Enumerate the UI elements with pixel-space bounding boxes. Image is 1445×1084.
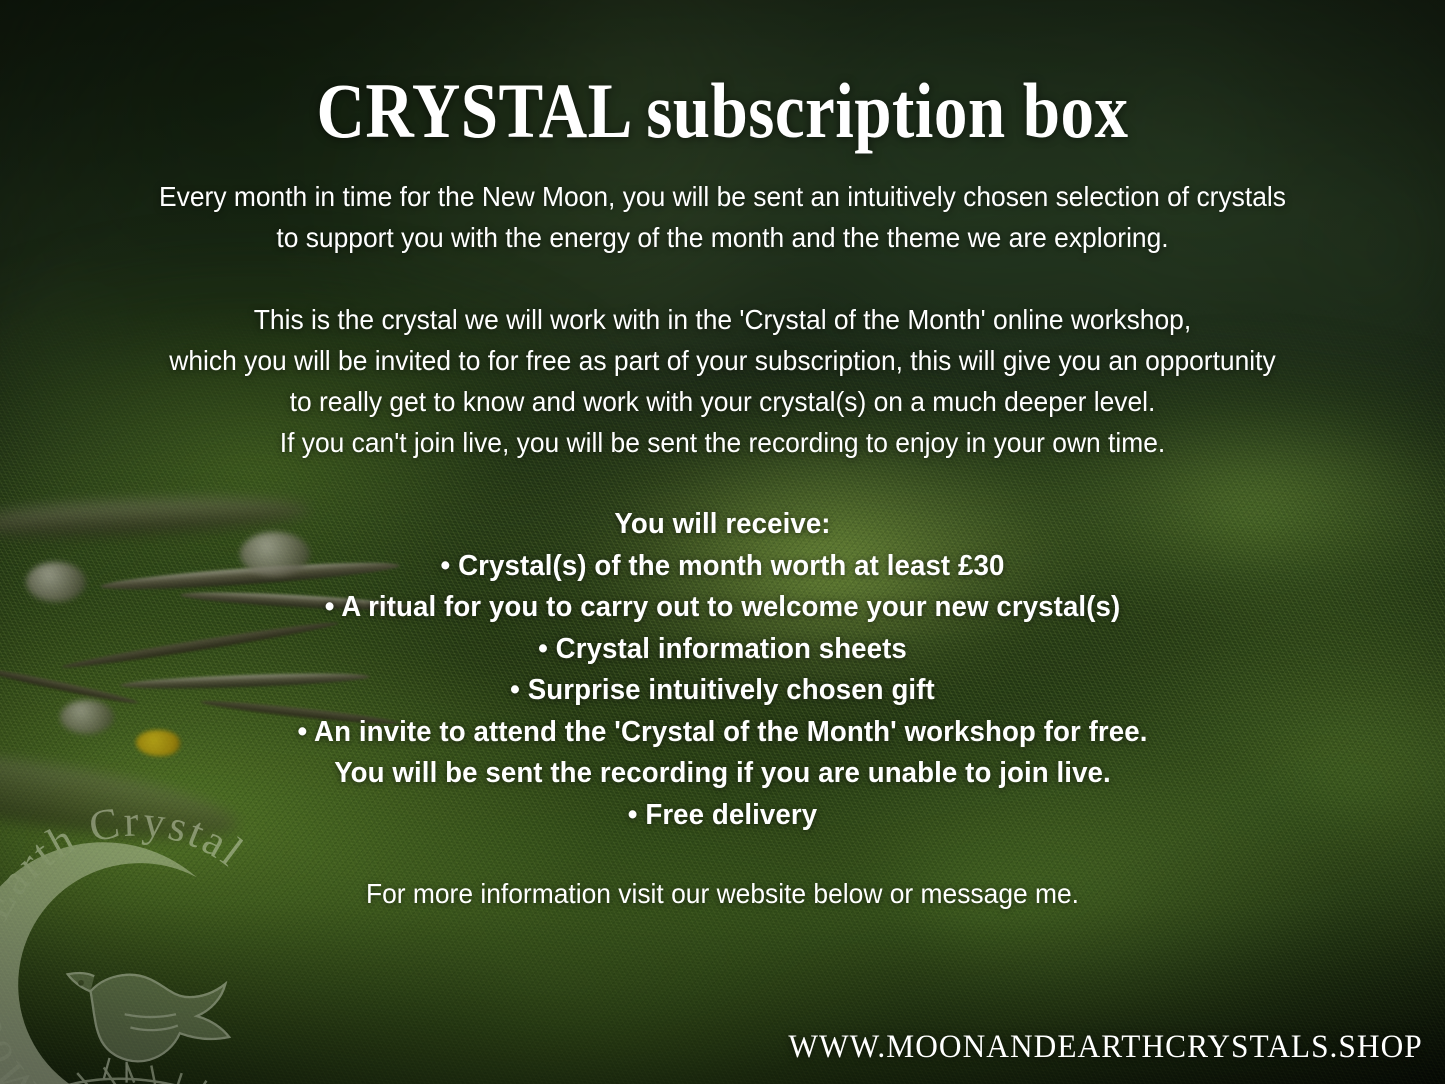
receive-heading: You will receive: — [22, 504, 1424, 546]
workshop-paragraph: This is the crystal we will work with in… — [29, 299, 1416, 463]
receive-item-2: • A ritual for you to carry out to welco… — [22, 587, 1424, 629]
receive-list: You will receive: • Crystal(s) of the mo… — [22, 504, 1424, 836]
intro-line-2: to support you with the energy of the mo… — [29, 217, 1416, 258]
receive-item-5-continued: You will be sent the recording if you ar… — [22, 753, 1424, 795]
intro-line-1: Every month in time for the New Moon, yo… — [29, 176, 1416, 217]
receive-item-3: • Crystal information sheets — [22, 629, 1424, 671]
workshop-line-3: to really get to know and work with your… — [29, 381, 1416, 422]
intro-paragraph: Every month in time for the New Moon, yo… — [29, 176, 1416, 258]
workshop-line-1: This is the crystal we will work with in… — [29, 299, 1416, 340]
website-url[interactable]: WWW.MOONANDEARTHCRYSTALS.SHOP — [789, 1029, 1423, 1066]
receive-item-5: • An invite to attend the 'Crystal of th… — [22, 712, 1424, 754]
receive-item-4: • Surprise intuitively chosen gift — [22, 670, 1424, 712]
workshop-line-2: which you will be invited to for free as… — [29, 340, 1416, 381]
workshop-line-4: If you can't join live, you will be sent… — [29, 422, 1416, 463]
wren-bird-icon — [68, 973, 230, 1083]
crystal-subscription-poster: Moon & Earth Crystals C — [0, 0, 1445, 1084]
receive-item-1: • Crystal(s) of the month worth at least… — [22, 546, 1424, 588]
receive-item-6: • Free delivery — [22, 795, 1424, 837]
page-title: CRYSTAL subscription box — [101, 70, 1344, 152]
branch-icon — [39, 1064, 244, 1084]
footer-paragraph: For more information visit our website b… — [29, 874, 1416, 914]
